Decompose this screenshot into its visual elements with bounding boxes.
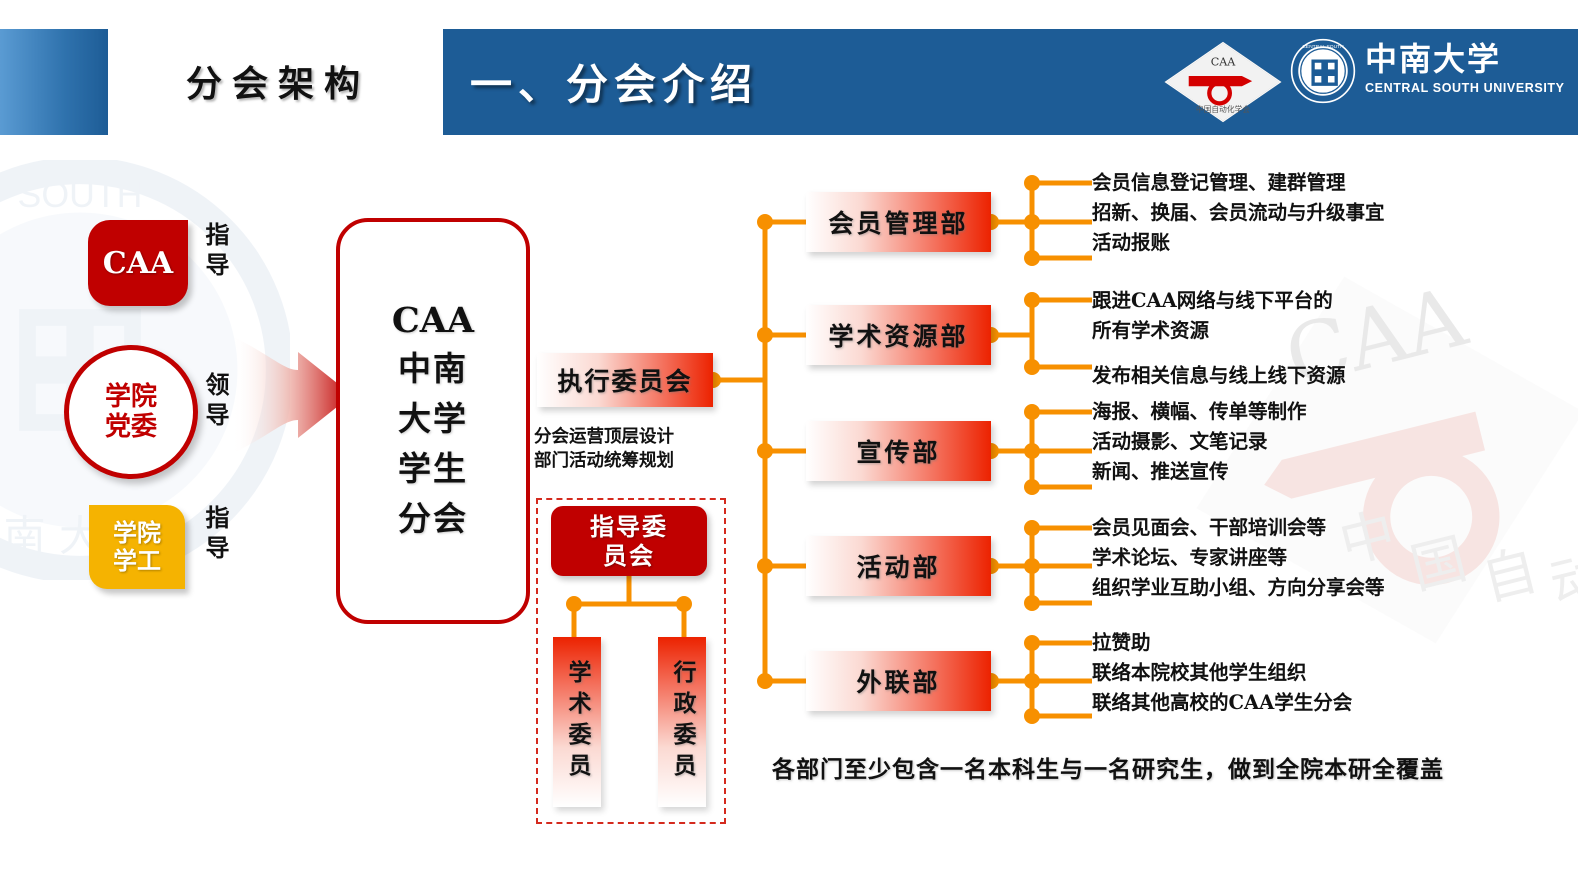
duties-activities: 会员见面会、干部培训会等 学术论坛、专家讲座等 组织学业互助小组、方向分享会等 [1092, 513, 1385, 603]
duty-item: 发布相关信息与线上线下资源 [1092, 361, 1346, 391]
node-department-publicity[interactable]: 宣传部 [806, 421, 991, 481]
duties-external-relations: 拉赞助 联络本院校其他学生组织 联络其他高校的CAA学生分会 [1092, 628, 1352, 718]
executive-committee-description: 分会运营顶层设计 部门活动统筹规划 [534, 425, 730, 473]
footnote-text: 各部门至少包含一名本科生与一名研究生，做到全院本研全覆盖 [772, 750, 1562, 784]
duty-item: 活动摄影、文笔记录 [1092, 427, 1307, 457]
duty-item: 招新、换届、会员流动与升级事宜 [1092, 198, 1385, 228]
duties-member-management: 会员信息登记管理、建群管理 招新、换届、会员流动与升级事宜 活动报账 [1092, 168, 1385, 258]
duties-publicity: 海报、横幅、传单等制作 活动摄影、文笔记录 新闻、推送宣传 [1092, 397, 1307, 487]
guide-line-1: 指导委 [590, 512, 668, 541]
node-department-activities[interactable]: 活动部 [806, 536, 991, 596]
duties-academic-resources: 跟进CAA网络与线下平台的 所有学术资源 发布相关信息与线上线下资源 [1092, 286, 1346, 391]
node-department-academic-resources[interactable]: 学术资源部 [806, 305, 991, 365]
duty-item: 联络本院校其他学生组织 [1092, 658, 1352, 688]
duty-item: 海报、横幅、传单等制作 [1092, 397, 1307, 427]
node-executive-committee[interactable]: 执行委员会 [537, 353, 713, 407]
exec-sub-line-2: 部门活动统筹规划 [534, 449, 730, 473]
duty-item: 会员信息登记管理、建群管理 [1092, 168, 1385, 198]
node-department-external-relations[interactable]: 外联部 [806, 651, 991, 711]
exec-sub-line-1: 分会运营顶层设计 [534, 425, 730, 449]
duty-item: 学术论坛、专家讲座等 [1092, 543, 1385, 573]
duty-item: 新闻、推送宣传 [1092, 457, 1307, 487]
node-administrative-committee-member[interactable]: 行政委员 [658, 637, 706, 807]
duty-item: 会员见面会、干部培训会等 [1092, 513, 1385, 543]
duty-item: 跟进CAA网络与线下平台的 所有学术资源 [1092, 286, 1346, 346]
node-department-member-management[interactable]: 会员管理部 [806, 192, 991, 252]
node-guidance-committee[interactable]: 指导委 员会 [551, 506, 707, 576]
duty-item: 活动报账 [1092, 228, 1385, 258]
guide-line-2: 员会 [603, 541, 655, 570]
duty-item: 联络其他高校的CAA学生分会 [1092, 688, 1352, 718]
node-academic-committee-member[interactable]: 学术委员 [553, 637, 601, 807]
duty-item: 组织学业互助小组、方向分享会等 [1092, 573, 1385, 603]
duty-item: 拉赞助 [1092, 628, 1352, 658]
